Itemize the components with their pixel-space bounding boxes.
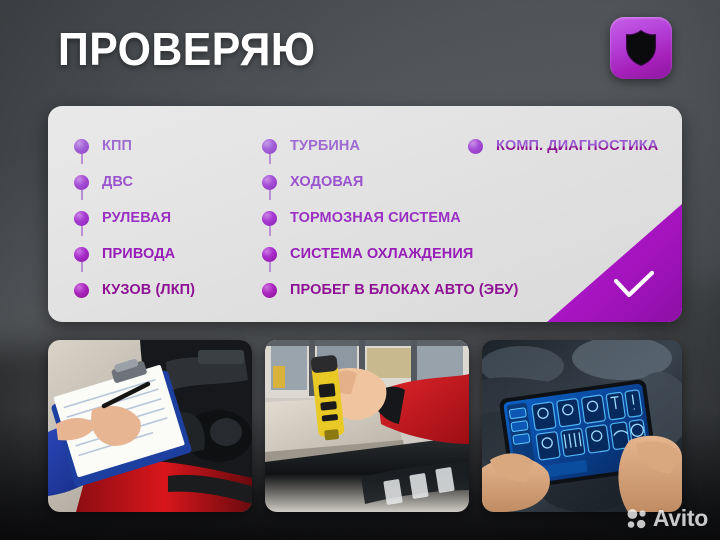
- photo-diagnostic-tablet[interactable]: [482, 340, 682, 512]
- bullet-dot-icon: [74, 175, 89, 190]
- bullet-dot-icon: [262, 247, 277, 262]
- list-item[interactable]: ПРИВОДА: [74, 236, 195, 272]
- services-column-1: КПП ДВС РУЛЕВАЯ ПРИВОДА: [74, 128, 195, 308]
- connector-dash: [269, 190, 271, 200]
- list-item-label: РУЛЕВАЯ: [102, 210, 171, 226]
- photo-strip: [48, 340, 682, 512]
- photo-paint-gauge[interactable]: [265, 340, 469, 512]
- list-item[interactable]: ХОДОВАЯ: [262, 164, 518, 200]
- services-column-3: КОМП. ДИАГНОСТИКА: [468, 128, 676, 164]
- list-item-label: КПП: [102, 138, 132, 154]
- list-item[interactable]: ТОРМОЗНАЯ СИСТЕМА: [262, 200, 518, 236]
- shield-badge: [610, 17, 672, 79]
- bullet-dot-icon: [74, 283, 89, 298]
- connector-dash: [81, 154, 83, 164]
- services-columns: КПП ДВС РУЛЕВАЯ ПРИВОДА: [48, 106, 682, 322]
- connector-dash: [81, 190, 83, 200]
- bullet-dot-icon: [74, 211, 89, 226]
- list-item-label: ТУРБИНА: [290, 138, 360, 154]
- list-item-label: ПРИВОДА: [102, 246, 175, 262]
- list-item-label: ТОРМОЗНАЯ СИСТЕМА: [290, 210, 461, 226]
- list-item-label: ХОДОВАЯ: [290, 174, 363, 190]
- list-item[interactable]: ПРОБЕГ В БЛОКАХ АВТО (ЭБУ): [262, 272, 518, 308]
- list-item-label: КУЗОВ (ЛКП): [102, 282, 195, 298]
- connector-dash: [269, 226, 271, 236]
- photo-mechanic-clipboard[interactable]: [48, 340, 252, 512]
- bullet-dot-icon: [262, 211, 277, 226]
- list-item-label: СИСТЕМА ОХЛАЖДЕНИЯ: [290, 246, 473, 262]
- list-item-label: КОМП. ДИАГНОСТИКА: [496, 139, 676, 154]
- bullet-dot-icon: [74, 247, 89, 262]
- avito-dots-logo: [626, 508, 648, 530]
- services-card: КПП ДВС РУЛЕВАЯ ПРИВОДА: [48, 106, 682, 322]
- bullet-dot-icon: [262, 175, 277, 190]
- list-item[interactable]: РУЛЕВАЯ: [74, 200, 195, 236]
- shield-icon: [624, 29, 658, 67]
- connector-dash: [269, 154, 271, 164]
- avito-wordmark: Avito: [653, 505, 708, 532]
- list-item-label: ПРОБЕГ В БЛОКАХ АВТО (ЭБУ): [290, 282, 518, 298]
- avito-watermark: Avito: [626, 505, 708, 532]
- list-item[interactable]: ДВС: [74, 164, 195, 200]
- bullet-dot-icon: [468, 139, 483, 154]
- list-item[interactable]: КОМП. ДИАГНОСТИКА: [468, 128, 676, 164]
- list-item-label: ДВС: [102, 174, 133, 190]
- bullet-dot-icon: [262, 139, 277, 154]
- page-title: ПРОВЕРЯЮ: [58, 26, 315, 72]
- bullet-dot-icon: [262, 283, 277, 298]
- bullet-dot-icon: [74, 139, 89, 154]
- connector-dash: [81, 262, 83, 272]
- list-item[interactable]: КПП: [74, 128, 195, 164]
- connector-dash: [269, 262, 271, 272]
- list-item[interactable]: КУЗОВ (ЛКП): [74, 272, 195, 308]
- list-item[interactable]: СИСТЕМА ОХЛАЖДЕНИЯ: [262, 236, 518, 272]
- connector-dash: [81, 226, 83, 236]
- poster-canvas: ПРОВЕРЯЮ КПП: [0, 0, 720, 540]
